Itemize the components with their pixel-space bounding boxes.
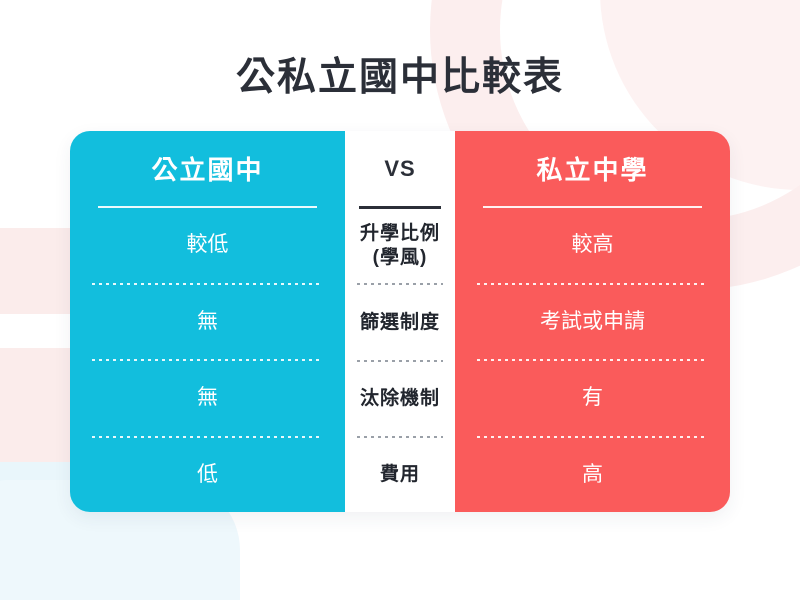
criteria-row-1-line1: 升學比例 bbox=[360, 223, 440, 244]
cell-private-row-1: 較高 bbox=[455, 208, 730, 283]
cell-public-row-2: 無 bbox=[70, 285, 345, 360]
cell-public-row-1: 較低 bbox=[70, 208, 345, 283]
comparison-table-card: 公立國中 較低 無 無 低 VS 升學比例 (學風) 篩選制度 汰除機制 費用 … bbox=[70, 131, 730, 512]
header-versus: VS bbox=[345, 131, 455, 206]
header-public-school: 公立國中 bbox=[70, 131, 345, 206]
cell-criteria-row-4: 費用 bbox=[345, 438, 455, 512]
cell-criteria-row-3: 汰除機制 bbox=[345, 362, 455, 436]
criteria-row-1-line2: (學風) bbox=[373, 247, 428, 268]
page-title: 公私立國中比較表 bbox=[0, 46, 800, 102]
column-criteria: VS 升學比例 (學風) 篩選制度 汰除機制 費用 bbox=[345, 131, 455, 512]
cell-criteria-row-1: 升學比例 (學風) bbox=[345, 209, 455, 283]
cell-private-row-3: 有 bbox=[455, 361, 730, 436]
column-public-school: 公立國中 較低 無 無 低 bbox=[70, 131, 345, 512]
cell-private-row-4: 高 bbox=[455, 438, 730, 513]
cell-private-row-2: 考試或申請 bbox=[455, 285, 730, 360]
cell-public-row-4: 低 bbox=[70, 438, 345, 513]
cell-public-row-3: 無 bbox=[70, 361, 345, 436]
column-private-school: 私立中學 較高 考試或申請 有 高 bbox=[455, 131, 730, 512]
cell-criteria-row-2: 篩選制度 bbox=[345, 285, 455, 359]
header-private-school: 私立中學 bbox=[455, 131, 730, 206]
